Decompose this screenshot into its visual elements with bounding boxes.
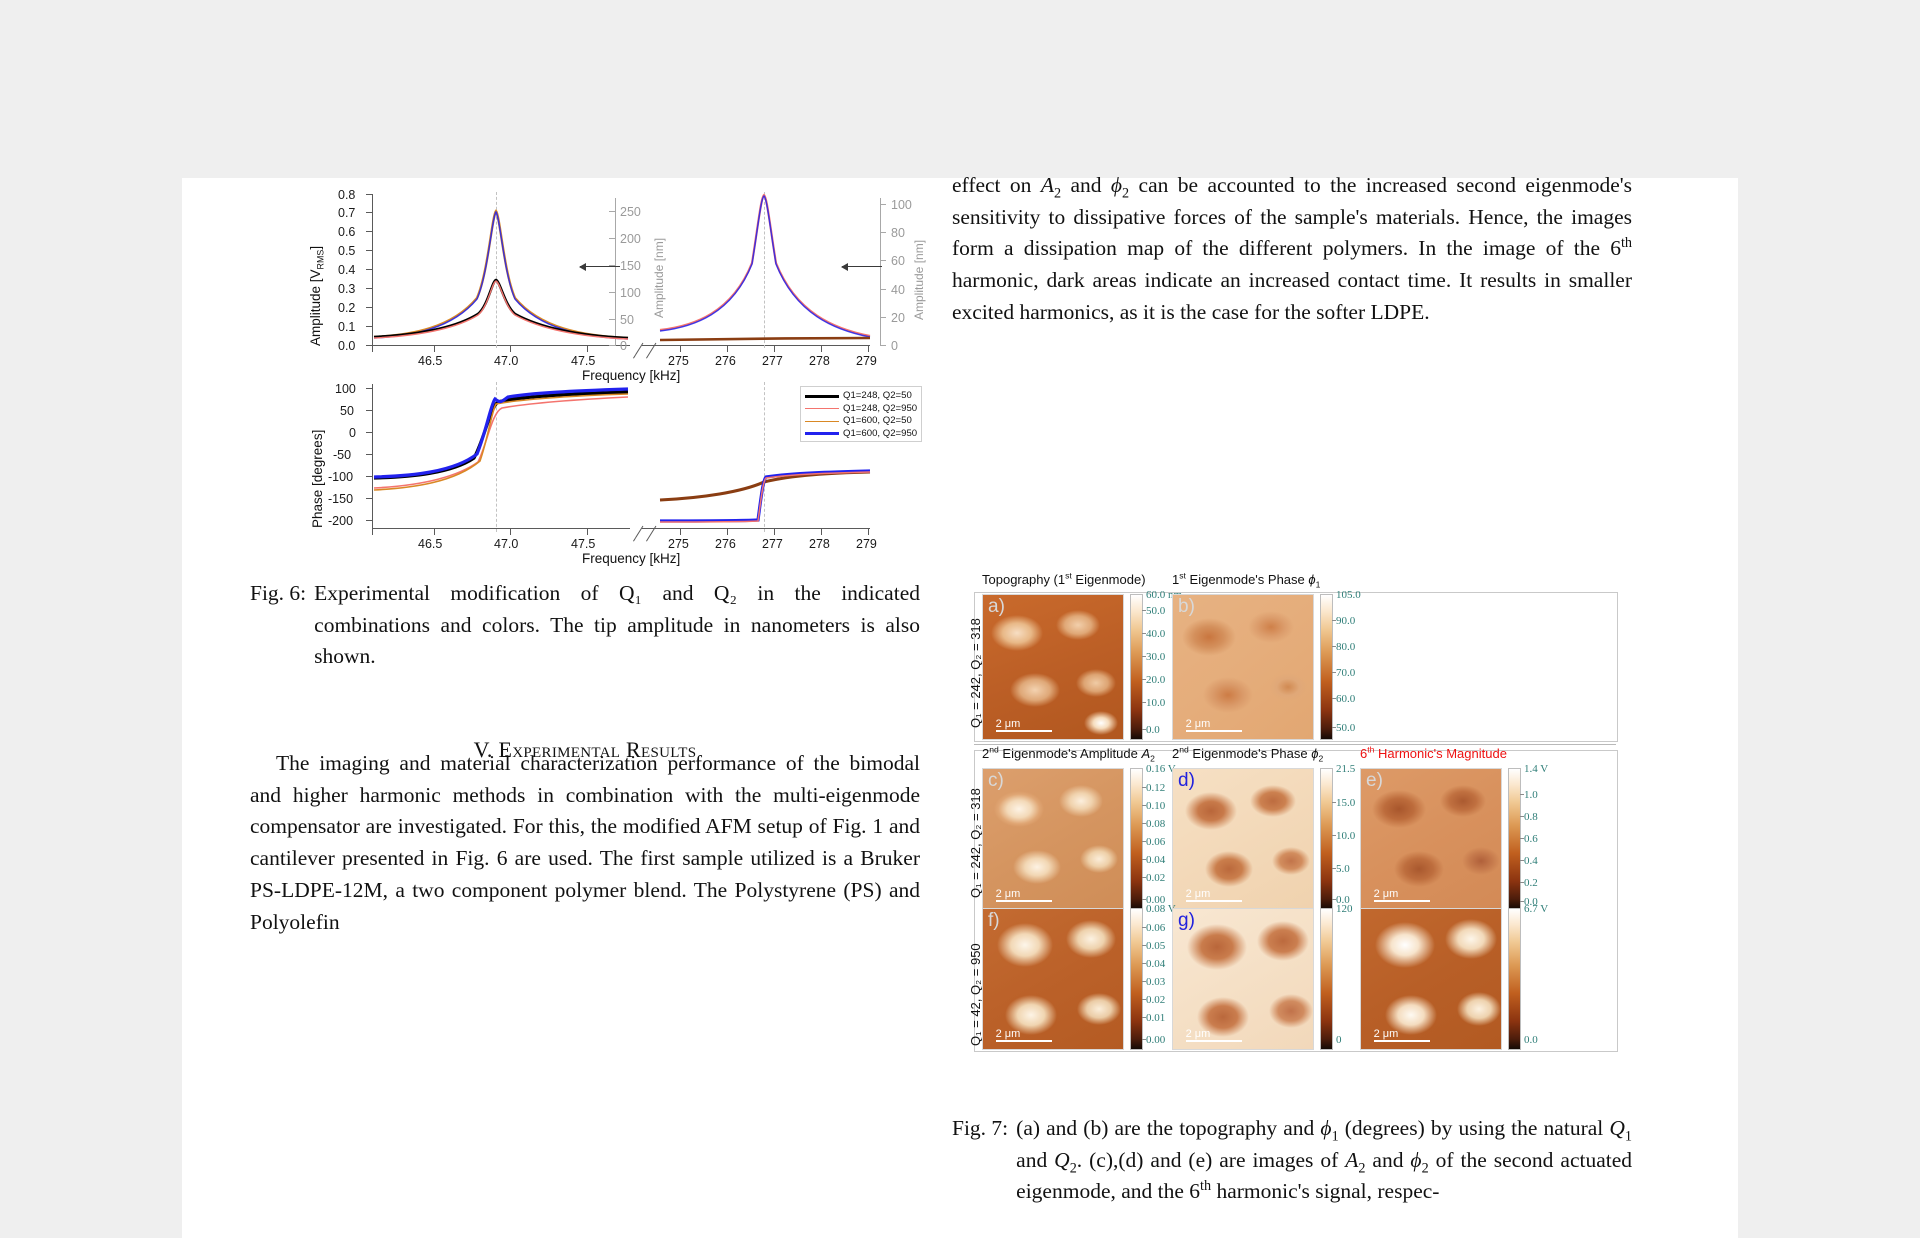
colorbar-b (1320, 594, 1333, 740)
figure-6-caption-label: Fig. 6: (250, 578, 314, 673)
colorbar-c (1130, 768, 1143, 910)
colorbar-f (1130, 908, 1143, 1050)
panel-f-label: f) (988, 910, 1000, 932)
panel-b: b) 2 μm (1172, 594, 1314, 740)
row-label-2: Q₁ = 242, Q₂ = 318 (968, 788, 983, 898)
legend-label: Q1=248, Q2=50 (843, 390, 912, 402)
panel-f-scale-text: 2 μm (996, 1028, 1021, 1040)
legend-label: Q1=600, Q2=950 (843, 428, 917, 440)
phase-plot: Phase [degrees] 100 50 0 -50 -100 (302, 378, 922, 568)
colorbar-a (1130, 594, 1143, 740)
left-paragraph-1: The imaging and material characterizatio… (250, 748, 920, 938)
legend-swatch (805, 395, 839, 398)
panel-g-scalebar (1186, 1040, 1242, 1042)
panel-e-scale-text: 2 μm (1374, 888, 1399, 900)
panel-c-label: c) (988, 770, 1004, 792)
right-paragraph-1: effect on A2 and ϕ2 can be accounted to … (952, 170, 1632, 329)
header-phase1: 1st Eigenmode's Phase ϕ1 (1172, 572, 1320, 587)
header-topography: Topography (1st Eigenmode) (982, 572, 1146, 587)
header-harmonic6: 6th Harmonic's Magnitude (1360, 746, 1507, 761)
panel-e: e) 2 μm (1360, 768, 1502, 910)
panel-d-scale-text: 2 μm (1186, 888, 1211, 900)
panel-c: c) 2 μm (982, 768, 1124, 910)
panel-b-scale-text: 2 μm (1186, 718, 1211, 730)
colorbar-g (1320, 908, 1333, 1050)
figure-6: Amplitude [VRMS] 0.0 0.1 0.2 0.3 (302, 178, 922, 568)
header-phase2: 2nd Eigenmode's Phase ϕ2 (1172, 746, 1323, 761)
legend-swatch (805, 421, 839, 422)
panel-b-scalebar (1186, 730, 1242, 732)
panel-a-label: a) (988, 596, 1005, 618)
panel-h: 2 μm (1360, 908, 1502, 1050)
chart-legend: Q1=248, Q2=50 Q1=248, Q2=950 Q1=600, Q2=… (800, 386, 922, 442)
panel-g: g) 2 μm (1172, 908, 1314, 1050)
legend-item: Q1=600, Q2=950 (801, 428, 921, 441)
panel-c-scalebar (996, 900, 1052, 902)
colorbar-h (1508, 908, 1521, 1050)
panel-b-label: b) (1178, 596, 1195, 618)
amplitude-curves (302, 178, 922, 378)
panel-d: d) 2 μm (1172, 768, 1314, 910)
figure-7-caption: Fig. 7: (a) and (b) are the topography a… (952, 1113, 1632, 1208)
panel-f: f) 2 μm (982, 908, 1124, 1050)
amplitude-plot: Amplitude [VRMS] 0.0 0.1 0.2 0.3 (302, 178, 922, 378)
row-label-1: Q₁ = 242, Q₂ = 318 (968, 618, 983, 728)
figure-6-caption: Fig. 6: Experimental modification of Q₁ … (250, 578, 920, 673)
row-label-3: Q₁ = 42, Q₂ = 950 (968, 943, 983, 1046)
panel-d-label: d) (1178, 770, 1195, 792)
legend-item: Q1=248, Q2=950 (801, 403, 921, 416)
panel-g-label: g) (1178, 910, 1195, 932)
panel-c-scale-text: 2 μm (996, 888, 1021, 900)
document-page: Amplitude [VRMS] 0.0 0.1 0.2 0.3 (182, 178, 1738, 1238)
panel-e-scalebar (1374, 900, 1430, 902)
panel-f-scalebar (996, 1040, 1052, 1042)
legend-item: Q1=600, Q2=50 (801, 415, 921, 428)
panel-h-scalebar (1374, 1040, 1430, 1042)
panel-e-label: e) (1366, 770, 1383, 792)
panel-a-scale-text: 2 μm (996, 718, 1021, 730)
figure7-row-divider (974, 744, 1616, 745)
figure-7-caption-text: (a) and (b) are the topography and ϕ1 (d… (1016, 1113, 1632, 1208)
legend-label: Q1=600, Q2=50 (843, 415, 912, 427)
panel-g-scale-text: 2 μm (1186, 1028, 1211, 1040)
legend-item: Q1=248, Q2=50 (801, 390, 921, 403)
header-amplitude2: 2nd Eigenmode's Amplitude A2 (982, 746, 1155, 761)
panel-h-scale-text: 2 μm (1374, 1028, 1399, 1040)
figure-7-caption-label: Fig. 7: (952, 1113, 1016, 1208)
colorbar-d (1320, 768, 1333, 910)
panel-a: a) 2 μm (982, 594, 1124, 740)
legend-swatch (805, 408, 839, 409)
colorbar-e (1508, 768, 1521, 910)
legend-swatch (805, 432, 839, 435)
figure-6-caption-text: Experimental modification of Q₁ and Q₂ i… (314, 578, 920, 673)
figure-7: Q₁ = 242, Q₂ = 318 Q₁ = 242, Q₂ = 318 Q₁… (960, 578, 1628, 1114)
panel-a-scalebar (996, 730, 1052, 732)
legend-label: Q1=248, Q2=950 (843, 403, 917, 415)
panel-d-scalebar (1186, 900, 1242, 902)
